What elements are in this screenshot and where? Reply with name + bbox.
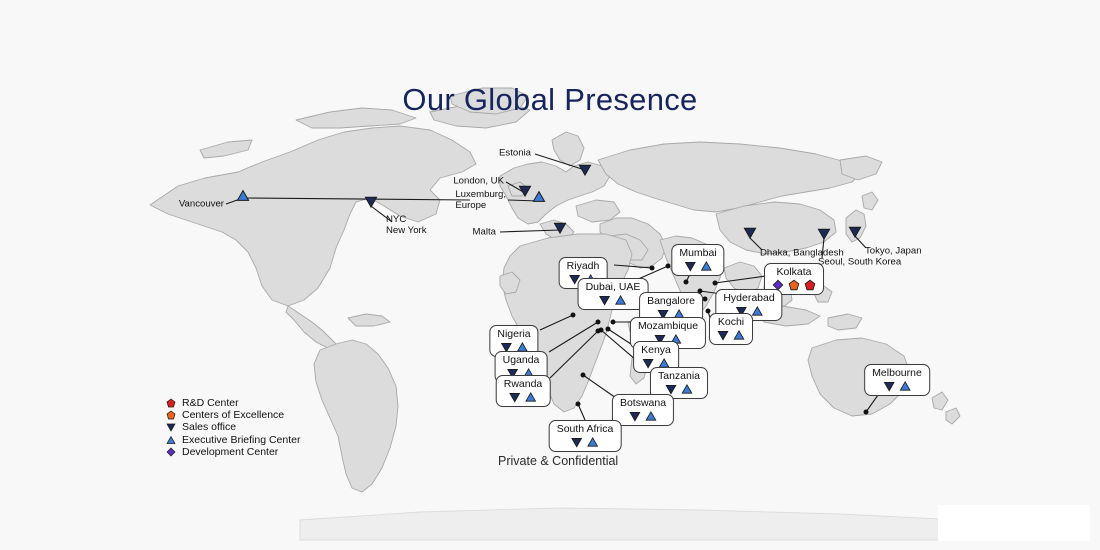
callout-label: South Africa [557, 423, 614, 435]
map-location-dot [650, 266, 655, 271]
label-line-1: London, UK [453, 176, 504, 187]
slide-canvas: Our Global Presence R&D CenterCenters of… [0, 0, 1100, 550]
triangle-down-navy-icon [571, 436, 583, 448]
map-callout-dubai-uae[interactable]: Dubai, UAE [578, 278, 649, 310]
triangle-down-navy-icon [642, 357, 654, 369]
legend: R&D CenterCenters of ExcellenceSales off… [163, 397, 300, 458]
map-location-dot [596, 320, 601, 325]
callout-label: Nigeria [497, 328, 530, 340]
map-location-dot [684, 280, 689, 285]
map-text-label-nyc: NYCNew York [386, 214, 427, 236]
callout-icons [586, 293, 641, 306]
callout-label: Rwanda [504, 378, 543, 390]
triangle-up-blue-icon [236, 189, 250, 208]
legend-item-sales: Sales office [163, 421, 300, 433]
legend-item-dev: Development Center [163, 446, 300, 458]
map-callout-melbourne[interactable]: Melbourne [864, 364, 930, 396]
map-callout-kochi[interactable]: Kochi [709, 313, 753, 345]
callout-label: Botswana [620, 397, 666, 409]
triangle-down-navy-icon [665, 383, 677, 395]
triangle-up-blue-icon [532, 190, 546, 209]
label-line-1: Estonia [499, 148, 531, 159]
bottom-right-blank-panel [938, 505, 1090, 541]
triangle-up-blue-icon [615, 294, 627, 306]
triangle-down-navy-icon [364, 195, 378, 214]
map-text-label-seoul-south-korea: Seoul, South Korea [818, 257, 901, 268]
callout-icons [620, 409, 666, 422]
triangle-up-blue-icon [163, 435, 179, 445]
callout-label: Tanzania [658, 370, 700, 382]
callout-label: Kochi [717, 316, 745, 328]
map-location-dot [864, 410, 869, 415]
confidentiality-footer: Private & Confidential [498, 454, 618, 468]
map-callout-south-africa[interactable]: South Africa [549, 420, 622, 452]
map-location-dot [571, 313, 576, 318]
triangle-up-blue-icon [751, 305, 763, 317]
label-line-1: Tokyo, Japan [865, 246, 922, 257]
callout-label: Uganda [503, 354, 540, 366]
callout-icons [504, 390, 543, 403]
page-title: Our Global Presence [0, 82, 1100, 118]
triangle-down-navy-icon [817, 227, 831, 246]
triangle-down-navy-icon [629, 410, 641, 422]
label-line-2: New York [386, 225, 427, 236]
legend-item-rnd: R&D Center [163, 397, 300, 409]
map-text-label-luxemburg: Luxemburg,Europe [455, 189, 506, 211]
label-line-2: Europe [455, 200, 506, 211]
map-location-dot [713, 281, 718, 286]
map-location-dot [666, 264, 671, 269]
triangle-up-blue-icon [681, 383, 693, 395]
map-text-label-london-uk: London, UK [453, 176, 504, 187]
triangle-down-navy-icon [717, 329, 729, 341]
map-location-dot [576, 402, 581, 407]
callout-label: Dubai, UAE [586, 281, 641, 293]
callout-icons [557, 435, 614, 448]
map-location-dot [706, 309, 711, 314]
legend-item-label: Development Center [182, 446, 278, 458]
triangle-down-navy-icon [578, 163, 592, 182]
callout-label: Bangalore [647, 295, 695, 307]
map-callout-botswana[interactable]: Botswana [612, 394, 674, 426]
legend-item-label: R&D Center [182, 397, 239, 409]
triangle-down-navy-icon [883, 380, 895, 392]
triangle-down-navy-icon [509, 391, 521, 403]
legend-item-coe: Centers of Excellence [163, 409, 300, 421]
callout-label: Mozambique [638, 320, 698, 332]
label-line-1: Malta [473, 227, 496, 238]
callout-icons [717, 328, 745, 341]
triangle-down-navy-icon [684, 260, 696, 272]
triangle-down-navy-icon [553, 221, 567, 240]
legend-item-label: Centers of Excellence [182, 409, 284, 421]
triangle-down-navy-icon [163, 422, 179, 432]
map-location-dot [611, 320, 616, 325]
callout-label: Melbourne [872, 367, 922, 379]
callout-label: Kolkata [772, 266, 816, 278]
triangle-up-blue-icon [525, 391, 537, 403]
map-location-dot [703, 297, 708, 302]
triangle-down-navy-icon [599, 294, 611, 306]
label-line-1: Vancouver [179, 199, 224, 210]
triangle-down-navy-icon [743, 226, 757, 245]
map-callout-mumbai[interactable]: Mumbai [671, 244, 724, 276]
diamond-purple-icon [163, 447, 179, 457]
callout-icons [679, 259, 716, 272]
map-text-label-vancouver: Vancouver [179, 199, 224, 210]
callout-label: Hyderabad [723, 292, 774, 304]
triangle-up-blue-icon [587, 436, 599, 448]
callout-label: Riyadh [567, 260, 600, 272]
pentagon-red-icon [804, 279, 816, 291]
map-location-dot [596, 329, 601, 334]
triangle-down-navy-icon [518, 184, 532, 203]
legend-item-label: Sales office [182, 421, 236, 433]
triangle-up-blue-icon [645, 410, 657, 422]
callout-label: Mumbai [679, 247, 716, 259]
callout-label: Kenya [641, 344, 671, 356]
map-callout-rwanda[interactable]: Rwanda [496, 375, 551, 407]
pentagon-red-icon [163, 398, 179, 408]
map-text-label-malta: Malta [473, 227, 496, 238]
label-line-1: NYC [386, 214, 427, 225]
map-location-dot [606, 327, 611, 332]
legend-item-ebc: Executive Briefing Center [163, 434, 300, 446]
legend-item-label: Executive Briefing Center [182, 434, 300, 446]
triangle-down-navy-icon [848, 225, 862, 244]
label-line-1: Luxemburg, [455, 189, 506, 200]
pentagon-orange-icon [788, 279, 800, 291]
map-location-dot [581, 373, 586, 378]
callout-icons [872, 379, 922, 392]
triangle-up-blue-icon [700, 260, 712, 272]
label-line-1: Seoul, South Korea [818, 257, 901, 268]
map-text-label-estonia: Estonia [499, 148, 531, 159]
triangle-up-blue-icon [899, 380, 911, 392]
map-text-label-tokyo-japan: Tokyo, Japan [865, 246, 922, 257]
pentagon-orange-icon [163, 410, 179, 420]
triangle-up-blue-icon [733, 329, 745, 341]
